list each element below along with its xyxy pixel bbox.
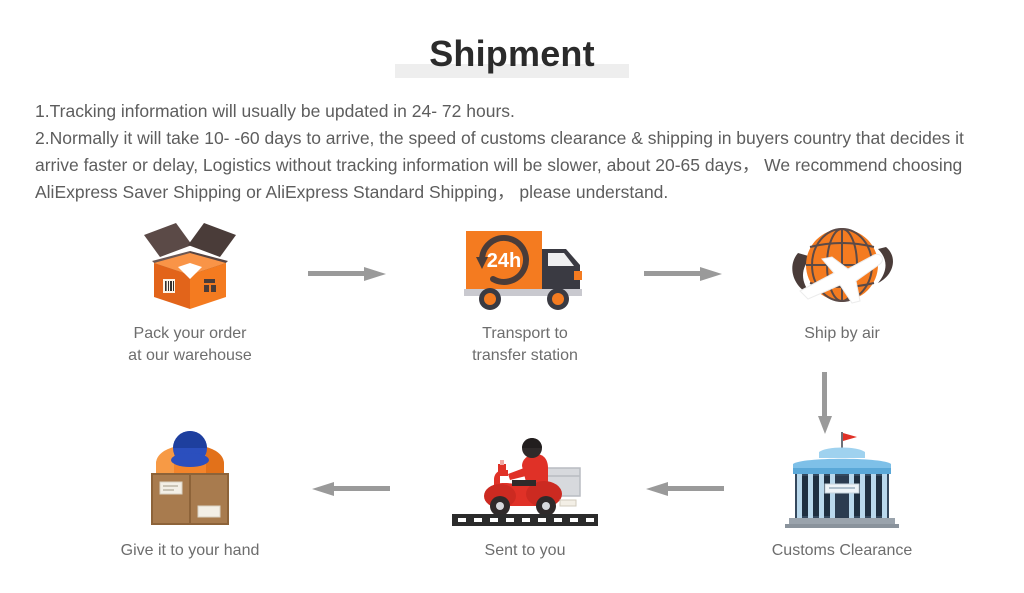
step-give-to-hand: Give it to your hand <box>40 432 340 562</box>
page-title-wrapper: Shipment <box>0 28 1024 80</box>
step-caption: Give it to your hand <box>40 540 340 562</box>
steps-row-bottom: Give it to your hand <box>0 432 1024 582</box>
step-caption: Transport to transfer station <box>375 323 675 367</box>
truck-badge-text: 24h <box>487 250 521 272</box>
caption-line-1: Ship by air <box>692 323 992 345</box>
steps-row-top: Pack your order at our warehouse 24h <box>0 215 1024 365</box>
step-ship-by-air: Ship by air <box>692 215 992 345</box>
caption-line-1: Pack your order <box>40 323 340 345</box>
open-box-icon <box>130 217 250 313</box>
arrow-scooter-to-hand-icon <box>312 480 390 498</box>
arrow-transport-to-air-icon <box>644 265 722 283</box>
courier-handing-parcel-art <box>40 432 340 530</box>
caption-line-1: Transport to <box>375 323 675 345</box>
caption-line-1: Give it to your hand <box>40 540 340 562</box>
step-caption: Pack your order at our warehouse <box>40 323 340 367</box>
open-box-art <box>40 215 340 313</box>
step-transport: 24h Transport to transfer station <box>375 215 675 367</box>
customs-building-icon <box>781 430 903 530</box>
step-sent-to-you: Sent to you <box>375 432 675 562</box>
arrow-customs-to-scooter-icon <box>646 480 724 498</box>
delivery-truck-art: 24h <box>375 215 675 313</box>
caption-line-2: at our warehouse <box>40 345 340 367</box>
note-line-2: 2.Normally it will take 10- -60 days to … <box>35 125 987 206</box>
shipping-notes: 1.Tracking information will usually be u… <box>35 98 987 206</box>
step-caption: Ship by air <box>692 323 992 345</box>
scooter-courier-icon <box>450 430 600 530</box>
delivery-truck-icon: 24h <box>462 221 588 313</box>
step-caption: Customs Clearance <box>692 540 992 562</box>
note-line-1: 1.Tracking information will usually be u… <box>35 98 987 125</box>
title-highlight-band: Shipment <box>395 28 629 80</box>
caption-line-2: transfer station <box>375 345 675 367</box>
step-pack-order: Pack your order at our warehouse <box>40 215 340 367</box>
shipment-infographic: Shipment 1.Tracking information will usu… <box>0 0 1024 593</box>
customs-building-art <box>692 432 992 530</box>
step-caption: Sent to you <box>375 540 675 562</box>
scooter-courier-art <box>375 432 675 530</box>
page-title: Shipment <box>429 33 595 74</box>
courier-handing-parcel-icon <box>130 430 250 530</box>
globe-airplane-icon <box>782 217 902 313</box>
caption-line-1: Sent to you <box>375 540 675 562</box>
caption-line-1: Customs Clearance <box>692 540 992 562</box>
arrow-pack-to-transport-icon <box>308 265 386 283</box>
globe-airplane-art <box>692 215 992 313</box>
step-customs-clearance: Customs Clearance <box>692 432 992 562</box>
arrow-air-to-customs-icon <box>816 372 834 434</box>
